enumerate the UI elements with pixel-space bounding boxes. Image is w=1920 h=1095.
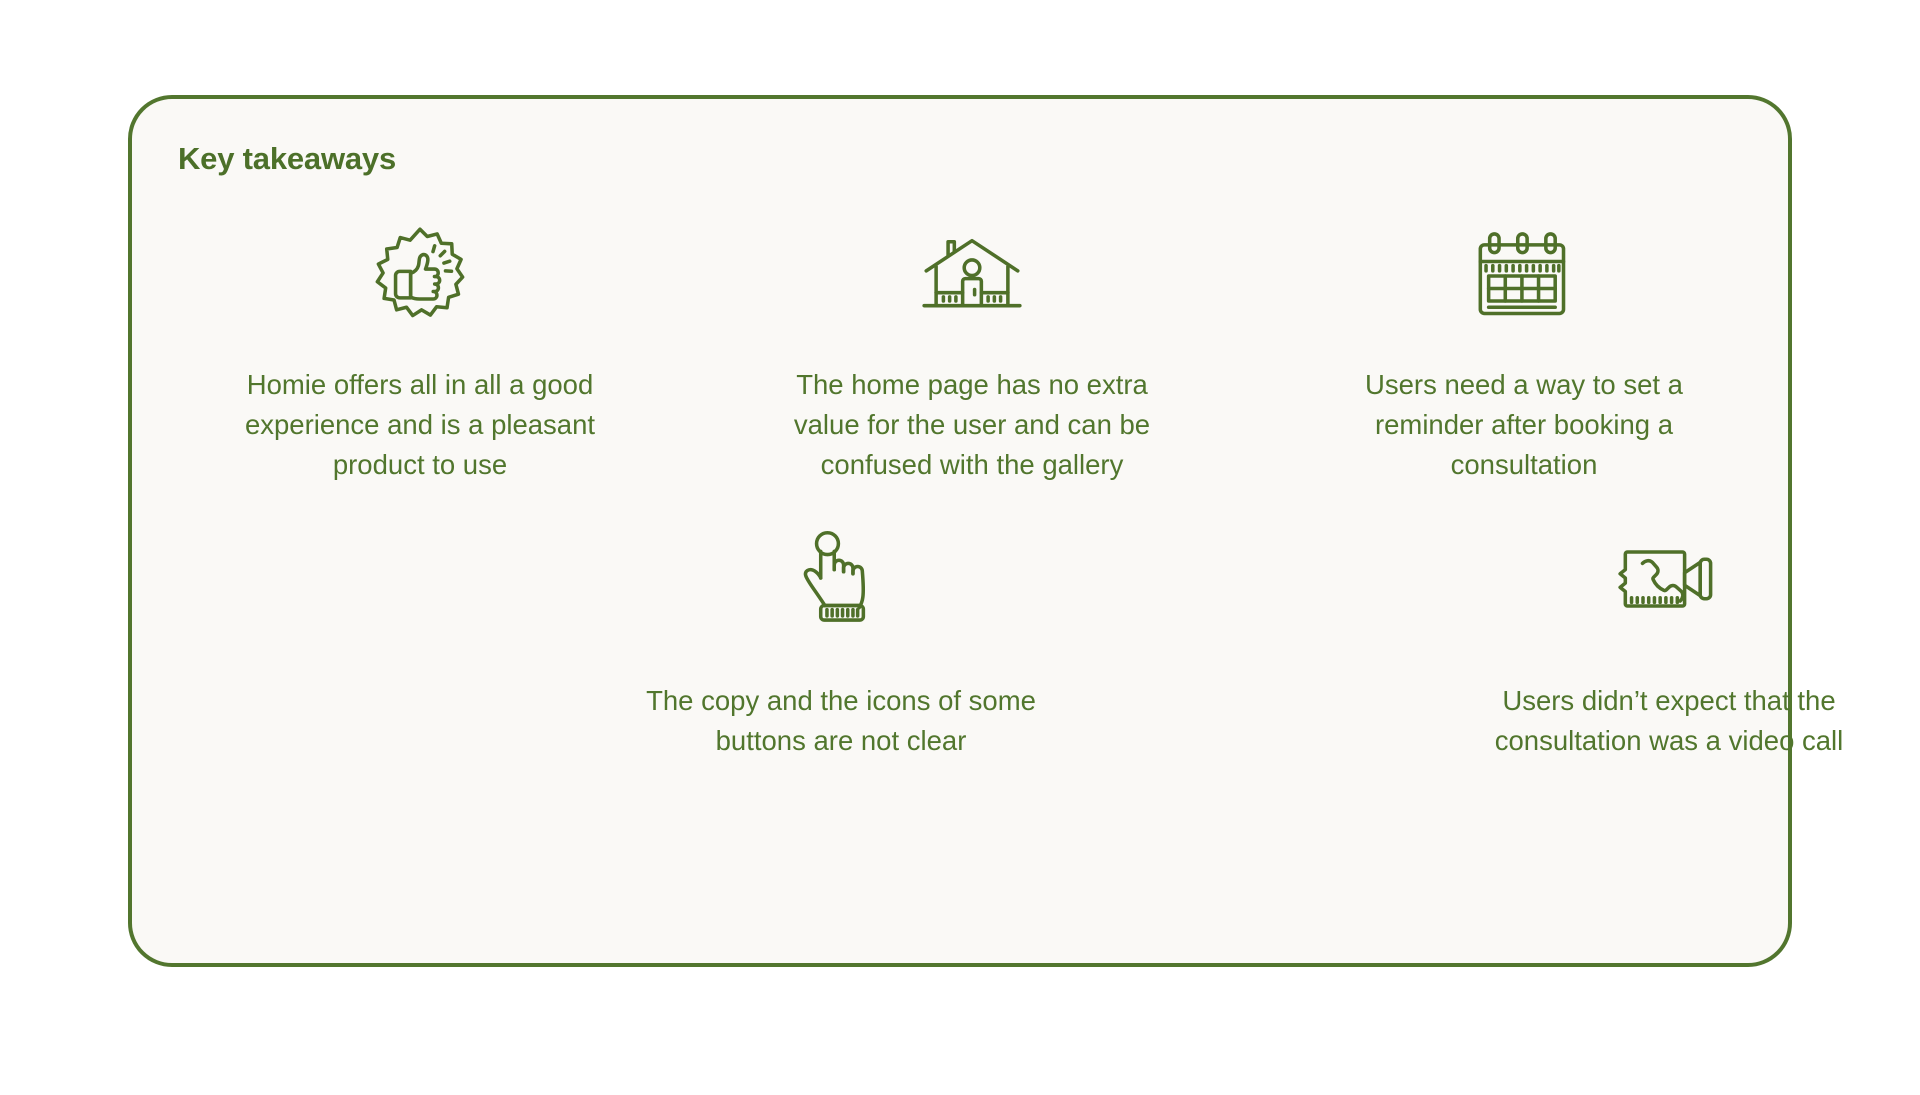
slide-canvas: Key takeaways — [0, 0, 1920, 1095]
thumbs-up-badge-icon — [364, 219, 476, 331]
key-takeaways-card: Key takeaways — [128, 95, 1792, 967]
takeaways-row-top: Homie offers all in all a good experienc… — [132, 219, 1812, 485]
takeaway-text: Homie offers all in all a good experienc… — [225, 365, 615, 485]
page-title: Key takeaways — [178, 141, 396, 177]
takeaway-item-5: Users didn’t expect that the consultatio… — [1255, 523, 1920, 761]
takeaways-row-bottom: The copy and the icons of some buttons a… — [132, 523, 1920, 761]
video-call-icon — [1613, 523, 1725, 635]
calendar-icon — [1468, 219, 1580, 331]
pointing-hand-icon — [785, 523, 897, 635]
takeaway-item-2: The home page has no extra value for the… — [696, 219, 1248, 485]
takeaway-text: The home page has no extra value for the… — [762, 365, 1182, 485]
takeaway-item-4: The copy and the icons of some buttons a… — [427, 523, 1255, 761]
takeaway-item-3: Users need a way to set a reminder after… — [1248, 219, 1800, 485]
takeaway-item-1: Homie offers all in all a good experienc… — [144, 219, 696, 485]
takeaway-text: Users need a way to set a reminder after… — [1329, 365, 1719, 485]
house-icon — [916, 219, 1028, 331]
takeaways-grid: Homie offers all in all a good experienc… — [132, 219, 1788, 959]
takeaway-text: The copy and the icons of some buttons a… — [646, 681, 1036, 761]
takeaway-text: Users didn’t expect that the consultatio… — [1474, 681, 1864, 761]
